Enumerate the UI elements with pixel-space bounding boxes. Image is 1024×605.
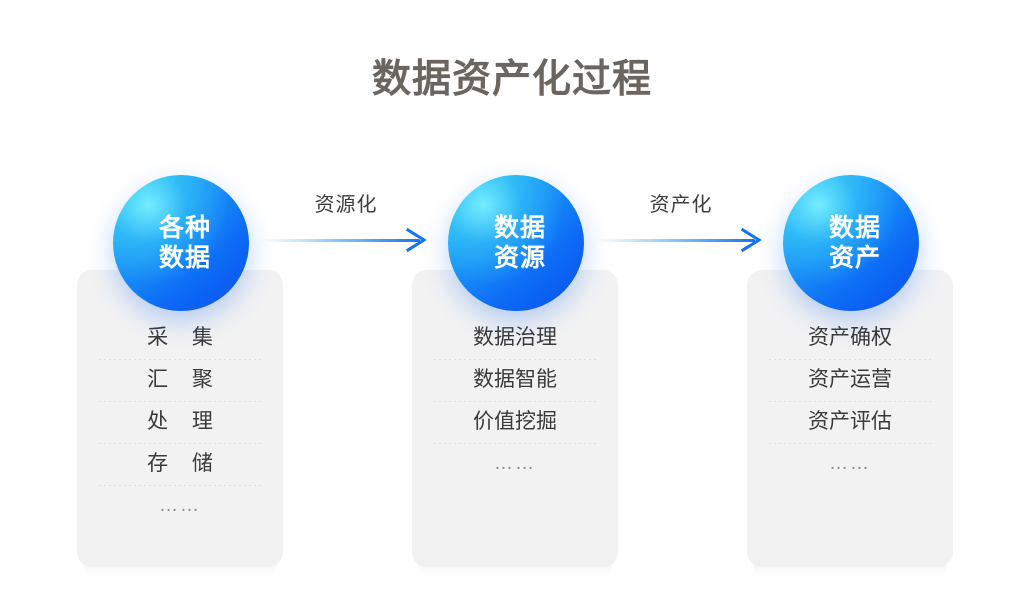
stage-column-1: 采 集 汇 聚 处 理 存 储 …… 各种 数据 xyxy=(77,165,283,570)
transition-arrow-label-2: 资产化 xyxy=(595,188,767,217)
stage-node-label-line1: 各种 xyxy=(159,213,211,244)
stage-node-circle-3: 数据 资产 xyxy=(783,175,919,311)
stage-column-3: 资产确权 资产运营 资产评估 …… 数据 资产 xyxy=(747,165,953,570)
list-item: 价值挖掘 xyxy=(434,401,596,443)
stage-node-circle-1: 各种 数据 xyxy=(113,175,249,311)
list-item: …… xyxy=(99,485,261,527)
list-item: 数据治理 xyxy=(434,317,596,359)
transition-arrow-label-1: 资源化 xyxy=(260,188,432,217)
list-item: 存 储 xyxy=(99,443,261,485)
transition-arrow-2: 资产化 xyxy=(595,228,767,254)
stage-node-label-line1: 数据 xyxy=(494,213,546,244)
stage-item-list-2: 数据治理 数据智能 价值挖掘 …… xyxy=(412,317,618,485)
stage-item-list-3: 资产确权 资产运营 资产评估 …… xyxy=(747,317,953,485)
list-item: 资产确权 xyxy=(769,317,931,359)
stage-node-label-line1: 数据 xyxy=(829,213,881,244)
list-item: 处 理 xyxy=(99,401,261,443)
list-item: 资产评估 xyxy=(769,401,931,443)
arrow-line-icon xyxy=(595,239,755,242)
list-item: …… xyxy=(434,443,596,485)
stage-node-circle-2: 数据 资源 xyxy=(448,175,584,311)
stage-node-label-line2: 资源 xyxy=(494,243,546,274)
stage-node-label-line2: 资产 xyxy=(829,243,881,274)
list-item: …… xyxy=(769,443,931,485)
list-item: 采 集 xyxy=(99,317,261,359)
list-item: 数据智能 xyxy=(434,359,596,401)
list-item: 汇 聚 xyxy=(99,359,261,401)
diagram-canvas: 数据资产化过程 采 集 汇 聚 处 理 存 储 …… 各种 数据 数据治理 数据… xyxy=(0,0,1024,605)
arrow-line-icon xyxy=(260,239,420,242)
transition-arrow-1: 资源化 xyxy=(260,228,432,254)
list-item: 资产运营 xyxy=(769,359,931,401)
stage-column-2: 数据治理 数据智能 价值挖掘 …… 数据 资源 xyxy=(412,165,618,570)
stage-node-label-line2: 数据 xyxy=(159,243,211,274)
stage-item-list-1: 采 集 汇 聚 处 理 存 储 …… xyxy=(77,317,283,527)
page-title: 数据资产化过程 xyxy=(0,48,1024,104)
